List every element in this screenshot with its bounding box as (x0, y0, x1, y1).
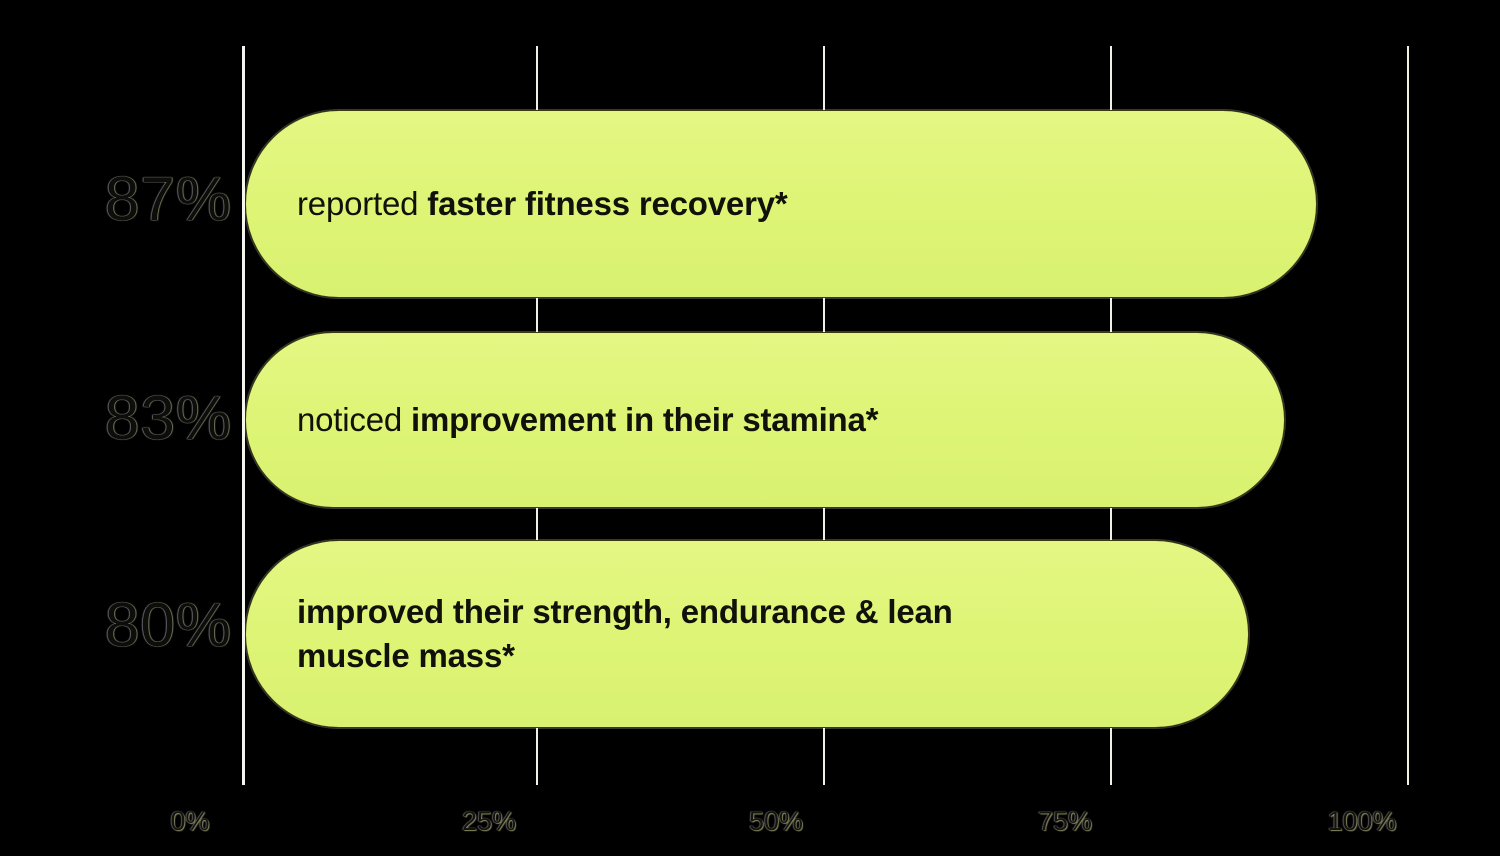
bar-label-1-light: reported (297, 185, 427, 222)
bar-label-2: noticed improvement in their stamina* (246, 398, 908, 442)
value-label-2: 83% (105, 383, 232, 454)
gridline-75-percent-segment (1110, 727, 1112, 785)
bar-row-2: noticed improvement in their stamina* (245, 332, 1285, 508)
xtick-label-50: 50% (749, 806, 803, 837)
xtick-label-25: 25% (462, 806, 516, 837)
value-label-3: 80% (105, 590, 232, 661)
xtick-label-100: 100% (1327, 806, 1396, 837)
gridline-50-percent-segment (823, 727, 825, 785)
gridline-25-percent-segment (536, 727, 538, 785)
gridline-75-percent-segment (1110, 508, 1112, 540)
bar-label-3-bold: improved their strength, endurance & lea… (297, 593, 953, 674)
bar-chart: reported faster fitness recovery* notice… (0, 0, 1500, 856)
bar-label-1: reported faster fitness recovery* (246, 182, 818, 226)
bar-label-2-bold: improvement in their stamina* (411, 401, 878, 438)
gridline-25-percent-segment (536, 298, 538, 332)
gridline-25-percent-segment (536, 508, 538, 540)
xtick-label-0: 0% (170, 806, 209, 837)
bar-row-1: reported faster fitness recovery* (245, 110, 1317, 298)
xtick-label-75: 75% (1038, 806, 1092, 837)
bar-label-3: improved their strength, endurance & lea… (246, 590, 983, 677)
gridline-75-percent-segment (1110, 46, 1112, 110)
gridline-50-percent-segment (823, 298, 825, 332)
gridline-75-percent-segment (1110, 298, 1112, 332)
value-label-1: 87% (105, 164, 232, 235)
gridline-50-percent-segment (823, 508, 825, 540)
bar-label-1-bold: faster fitness recovery* (427, 185, 787, 222)
gridline-50-percent-segment (823, 46, 825, 110)
bar-label-2-light: noticed (297, 401, 411, 438)
bar-row-3: improved their strength, endurance & lea… (245, 540, 1249, 728)
gridline-25-percent-segment (536, 46, 538, 110)
gridline-100-percent (1407, 46, 1409, 785)
